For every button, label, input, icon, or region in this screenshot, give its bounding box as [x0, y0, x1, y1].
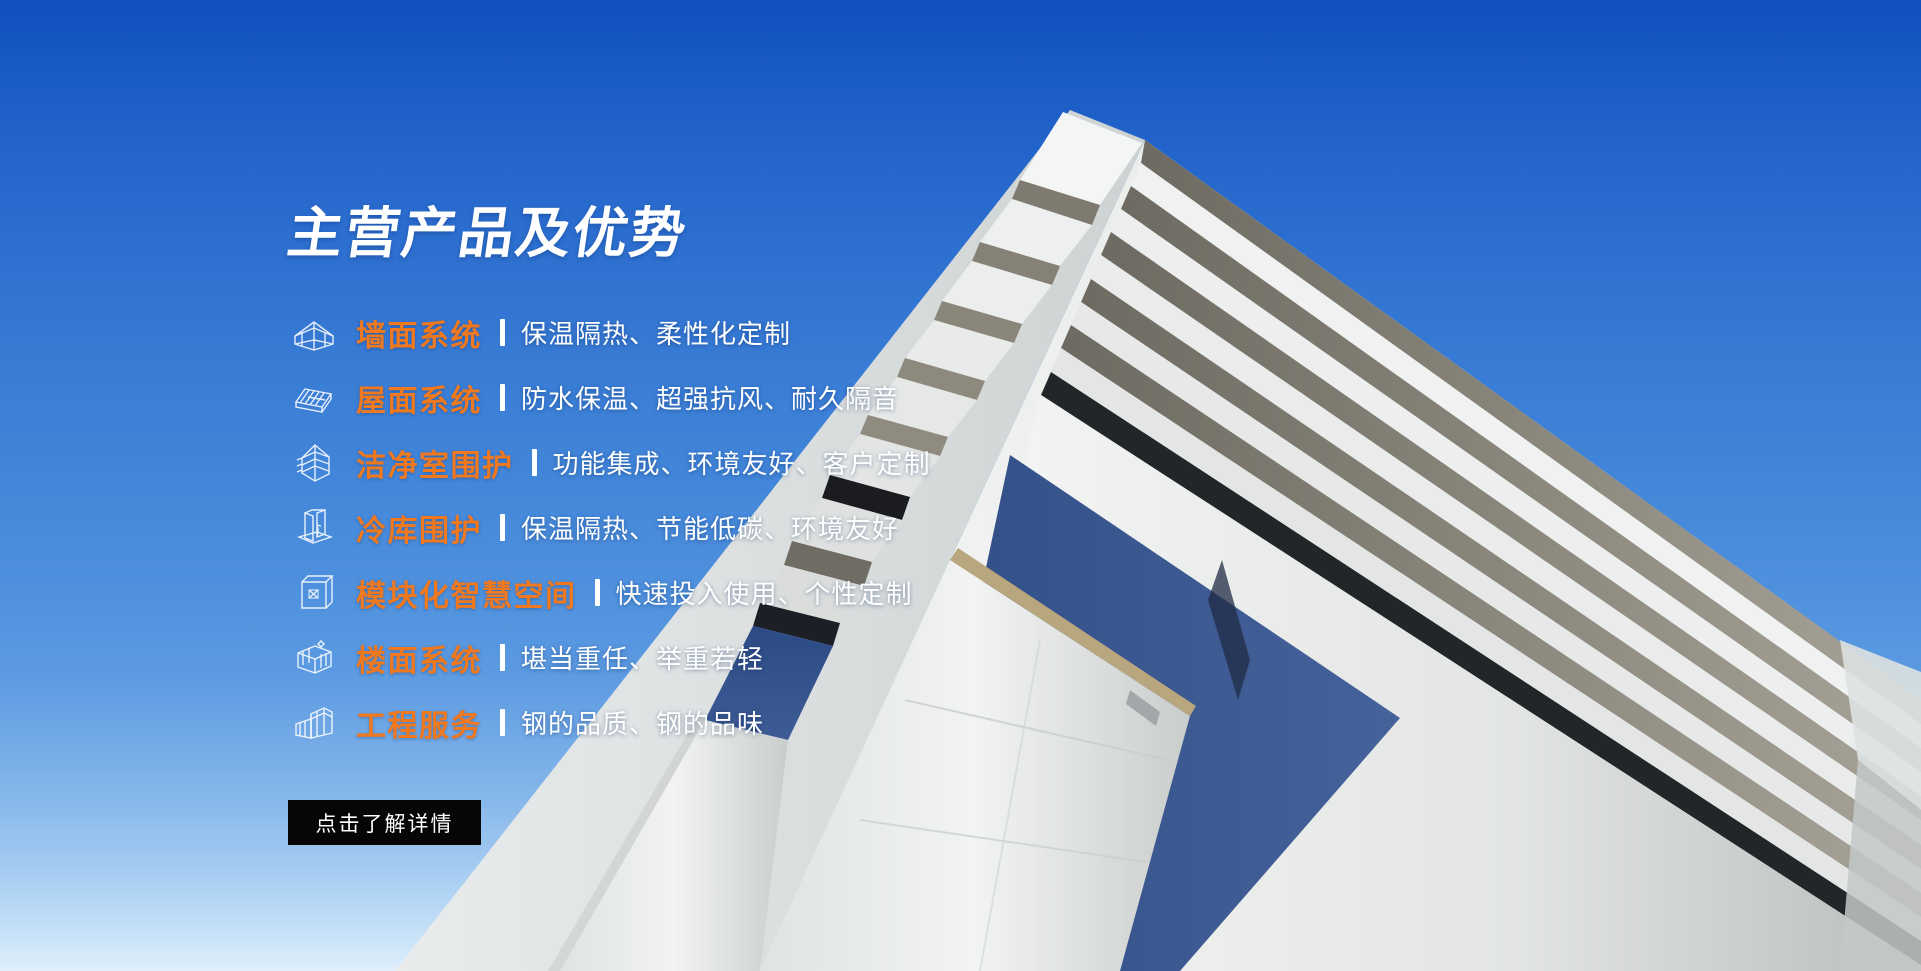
product-row-cleanroom[interactable]: 洁净室围护 功能集成、环境友好、客户定制: [288, 430, 1188, 495]
product-row-cold-storage[interactable]: 冷库围护 保温隔热、节能低碳、环境友好: [288, 495, 1188, 560]
separator-bar: [500, 514, 505, 541]
product-title: 楼面系统: [356, 636, 482, 680]
wall-frame-icon: [288, 307, 340, 359]
cleanroom-building-icon: [288, 437, 340, 489]
separator-bar: [500, 644, 505, 671]
product-row-floor-system[interactable]: 楼面系统 堪当重任、举重若轻: [288, 625, 1188, 690]
product-row-wall-system[interactable]: 墙面系统 保温隔热、柔性化定制: [288, 300, 1188, 365]
product-title: 模块化智慧空间: [356, 571, 577, 615]
product-title: 墙面系统: [356, 311, 482, 355]
product-title: 工程服务: [356, 701, 482, 745]
separator-bar: [500, 319, 505, 346]
separator-bar: [532, 449, 537, 476]
learn-more-button[interactable]: 点击了解详情: [288, 800, 481, 845]
separator-bar: [595, 579, 600, 606]
product-title: 洁净室围护: [356, 441, 514, 485]
product-desc: 堪当重任、举重若轻: [521, 639, 764, 676]
product-list: 墙面系统 保温隔热、柔性化定制 屋面系统 防水保温、超强抗风、: [288, 300, 1188, 755]
product-desc: 快速投入使用、个性定制: [616, 574, 913, 611]
product-title: 冷库围护: [356, 506, 482, 550]
page-title: 主营产品及优势: [284, 206, 691, 261]
separator-bar: [500, 709, 505, 736]
hero-content: 主营产品及优势 墙面系统 保温隔热、柔性化定制: [288, 0, 1238, 971]
separator-bar: [500, 384, 505, 411]
cold-storage-icon: [288, 502, 340, 554]
product-row-engineering-service[interactable]: 工程服务 钢的品质、钢的品味: [288, 690, 1188, 755]
factory-service-icon: [288, 697, 340, 749]
floor-deck-icon: [288, 632, 340, 684]
product-desc: 防水保温、超强抗风、耐久隔音: [521, 379, 899, 416]
hero-banner: 主营产品及优势 墙面系统 保温隔热、柔性化定制: [0, 0, 1921, 971]
roof-panel-icon: [288, 372, 340, 424]
product-desc: 功能集成、环境友好、客户定制: [553, 444, 931, 481]
modular-cube-icon: [288, 567, 340, 619]
product-desc: 保温隔热、柔性化定制: [521, 314, 791, 351]
product-row-modular-space[interactable]: 模块化智慧空间 快速投入使用、个性定制: [288, 560, 1188, 625]
product-desc: 保温隔热、节能低碳、环境友好: [521, 509, 899, 546]
product-row-roof-system[interactable]: 屋面系统 防水保温、超强抗风、耐久隔音: [288, 365, 1188, 430]
product-desc: 钢的品质、钢的品味: [521, 704, 764, 741]
product-title: 屋面系统: [356, 376, 482, 420]
